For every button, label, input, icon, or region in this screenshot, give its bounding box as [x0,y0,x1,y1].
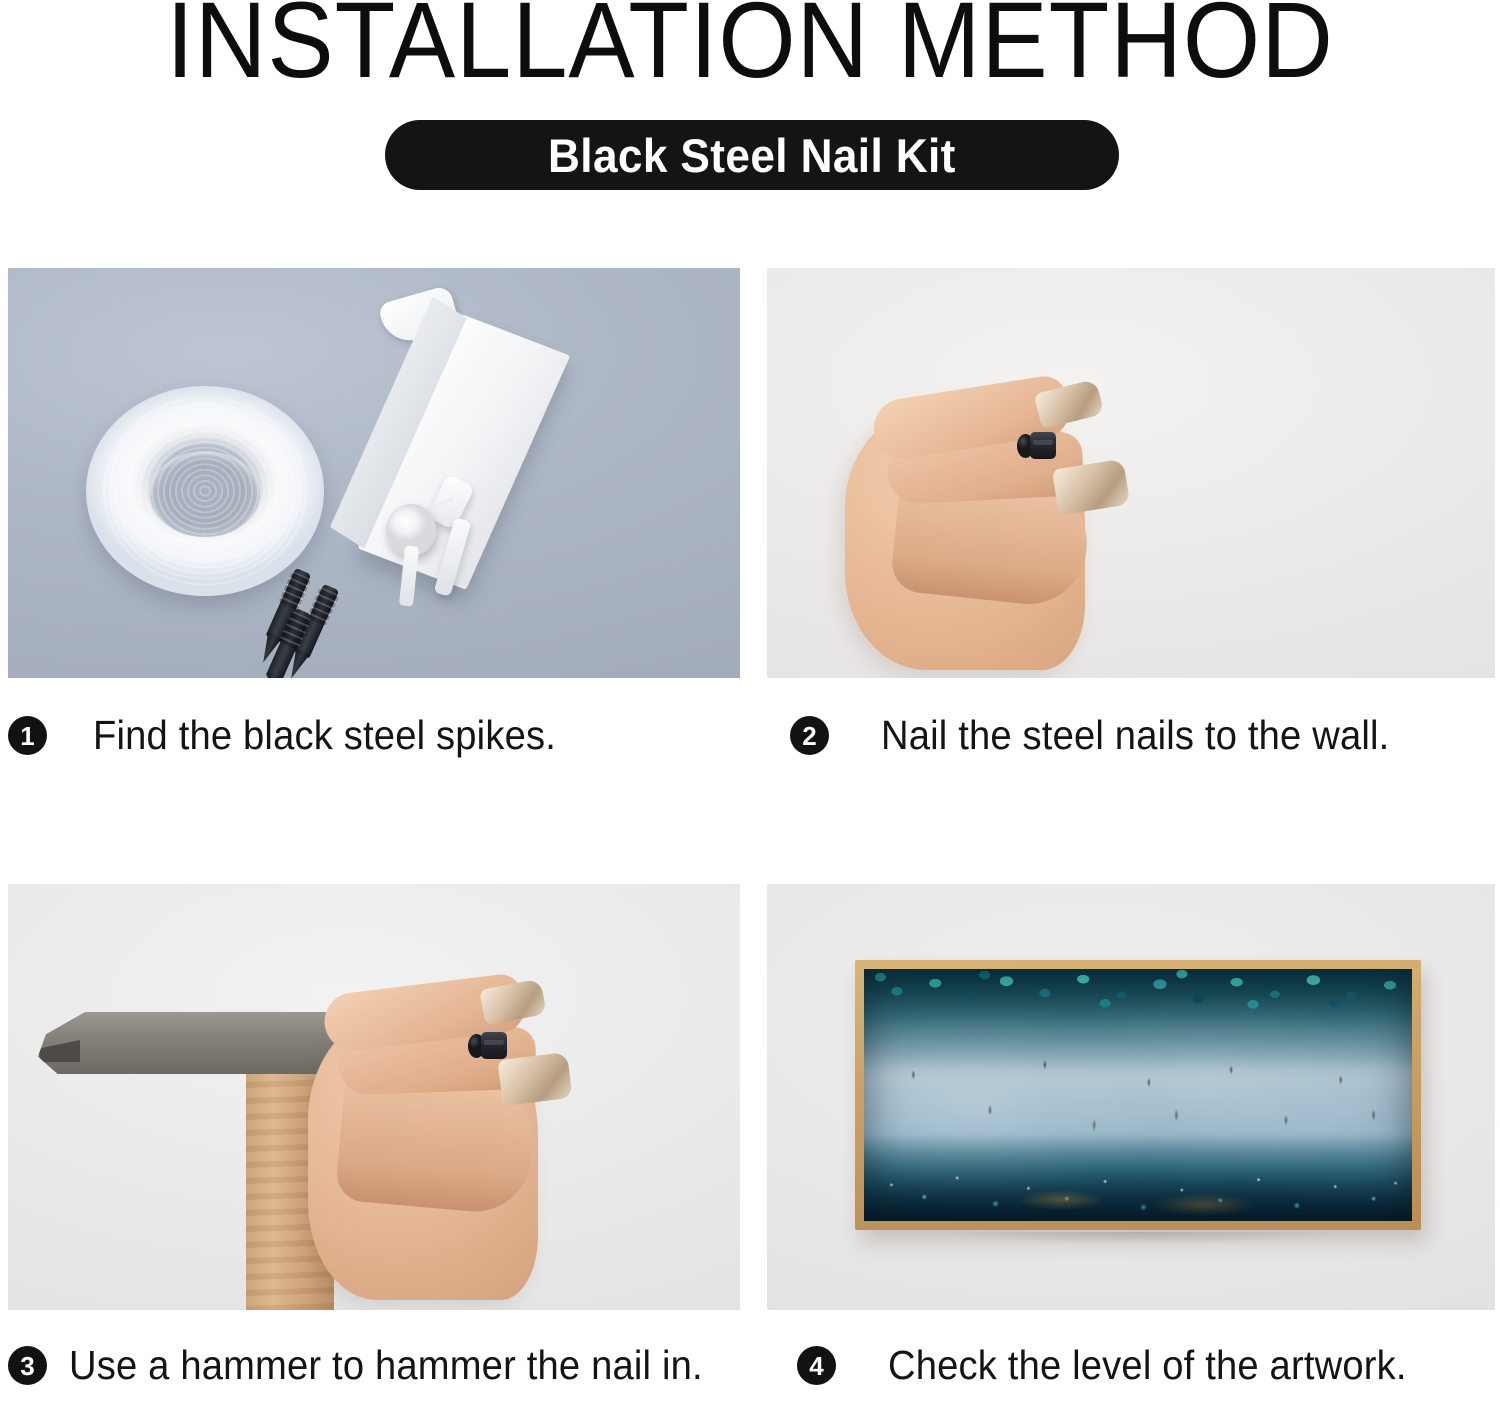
step-2-caption: 2 Nail the steel nails to the wall. [790,712,1428,759]
black-steel-nail-icon [1017,432,1055,460]
step-number-badge: 2 [790,716,829,755]
nail-body [1030,432,1056,459]
step-caption-text: Find the black steel spikes. [93,712,556,759]
step-caption-text: Check the level of the artwork. [888,1342,1407,1389]
step-number-badge: 4 [797,1346,836,1385]
white-hook-disc-icon [386,504,436,556]
step-2 [767,268,1495,678]
artwork-vignette-layer [864,969,1412,1221]
canvas-artwork [864,969,1412,1221]
nail-body [481,1032,507,1059]
steps-grid [0,0,1500,1401]
fingernail-icon [497,1052,572,1106]
step-number-badge: 3 [8,1346,47,1385]
step-4-photo [767,884,1495,1310]
step-3-caption: 3 Use a hammer to hammer the nail in. [8,1342,751,1389]
step-caption-text: Nail the steel nails to the wall. [881,712,1389,759]
step-4 [767,884,1495,1310]
wood-picture-frame [855,960,1421,1230]
installation-method-infographic: INSTALLATION METHOD Black Steel Nail Kit [0,0,1500,1401]
step-3-photo [8,884,740,1310]
adhesive-tape-roll-icon [86,386,324,596]
step-1-caption: 1 Find the black steel spikes. [8,712,591,759]
step-3 [8,884,740,1310]
frame-drop-shadow [859,1232,1419,1248]
step-2-photo [767,268,1495,678]
step-4-caption: 4 Check the level of the artwork. [797,1342,1446,1389]
step-caption-text: Use a hammer to hammer the nail in. [69,1342,703,1389]
step-1 [8,268,740,678]
black-steel-nail-icon [468,1032,506,1060]
step-number-badge: 1 [8,716,47,755]
step-1-photo [8,268,740,678]
